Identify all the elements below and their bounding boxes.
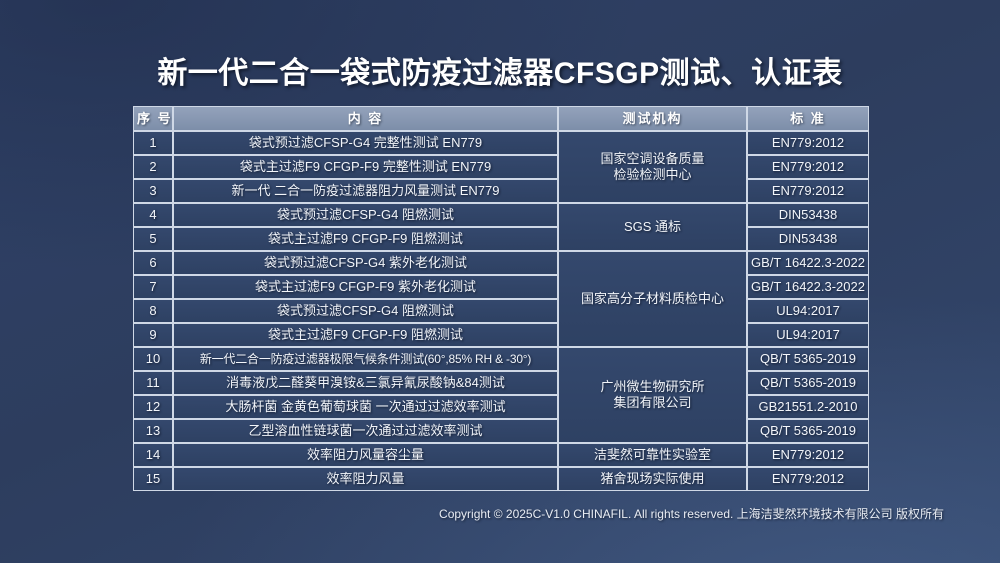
cell-standard: EN779:2012 — [747, 131, 869, 155]
cell-row-number: 11 — [133, 371, 173, 395]
table-row: 8袋式预过滤CFSP-G4 阻燃测试UL94:2017 — [133, 299, 869, 323]
cell-row-number: 13 — [133, 419, 173, 443]
cell-standard: EN779:2012 — [747, 155, 869, 179]
table-header-row: 序 号 内 容 测试机构 标 准 — [133, 106, 869, 131]
cell-content: 袋式主过滤F9 CFGP-F9 阻燃测试 — [173, 323, 558, 347]
cell-standard: EN779:2012 — [747, 467, 869, 491]
cell-standard: DIN53438 — [747, 227, 869, 251]
table-row: 1袋式预过滤CFSP-G4 完整性测试 EN779国家空调设备质量检验检测中心E… — [133, 131, 869, 155]
cell-standard: EN779:2012 — [747, 179, 869, 203]
table-row: 6袋式预过滤CFSP-G4 紫外老化测试国家高分子材料质检中心GB/T 1642… — [133, 251, 869, 275]
table-row: 3新一代 二合一防疫过滤器阻力风量测试 EN779EN779:2012 — [133, 179, 869, 203]
certification-table: 序 号 内 容 测试机构 标 准 1袋式预过滤CFSP-G4 完整性测试 EN7… — [133, 106, 869, 491]
cell-content: 乙型溶血性链球菌一次通过过滤效率测试 — [173, 419, 558, 443]
cell-content: 袋式主过滤F9 CFGP-F9 完整性测试 EN779 — [173, 155, 558, 179]
cell-content: 消毒液戊二醛葵甲溴铵&三氯异氰尿酸钠&84测试 — [173, 371, 558, 395]
cell-standard: GB21551.2-2010 — [747, 395, 869, 419]
cell-standard: GB/T 16422.3-2022 — [747, 251, 869, 275]
table-row: 11消毒液戊二醛葵甲溴铵&三氯异氰尿酸钠&84测试QB/T 5365-2019 — [133, 371, 869, 395]
table-row: 13乙型溶血性链球菌一次通过过滤效率测试QB/T 5365-2019 — [133, 419, 869, 443]
cell-standard: QB/T 5365-2019 — [747, 419, 869, 443]
cell-row-number: 15 — [133, 467, 173, 491]
table-row: 4袋式预过滤CFSP-G4 阻燃测试SGS 通标DIN53438 — [133, 203, 869, 227]
cell-content: 大肠杆菌 金黄色葡萄球菌 一次通过过滤效率测试 — [173, 395, 558, 419]
cell-testing-organization: 国家空调设备质量检验检测中心 — [558, 131, 747, 203]
table-row: 5袋式主过滤F9 CFGP-F9 阻燃测试DIN53438 — [133, 227, 869, 251]
cell-testing-organization: 国家高分子材料质检中心 — [558, 251, 747, 347]
cell-content: 袋式主过滤F9 CFGP-F9 紫外老化测试 — [173, 275, 558, 299]
cell-row-number: 10 — [133, 347, 173, 371]
table-row: 10新一代二合一防疫过滤器极限气候条件测试(60°,85% RH & -30°)… — [133, 347, 869, 371]
cell-standard: QB/T 5365-2019 — [747, 347, 869, 371]
table-row: 2袋式主过滤F9 CFGP-F9 完整性测试 EN779EN779:2012 — [133, 155, 869, 179]
cell-content: 袋式预过滤CFSP-G4 紫外老化测试 — [173, 251, 558, 275]
cell-standard: QB/T 5365-2019 — [747, 371, 869, 395]
column-header-content: 内 容 — [173, 106, 558, 131]
cell-row-number: 9 — [133, 323, 173, 347]
cell-testing-organization: 广州微生物研究所集团有限公司 — [558, 347, 747, 443]
table-body: 1袋式预过滤CFSP-G4 完整性测试 EN779国家空调设备质量检验检测中心E… — [133, 131, 869, 491]
column-header-std: 标 准 — [747, 106, 869, 131]
cell-row-number: 3 — [133, 179, 173, 203]
cell-testing-organization: 猪舍现场实际使用 — [558, 467, 747, 491]
table-row: 7袋式主过滤F9 CFGP-F9 紫外老化测试GB/T 16422.3-2022 — [133, 275, 869, 299]
cell-testing-organization: 洁斐然可靠性实验室 — [558, 443, 747, 467]
cell-row-number: 4 — [133, 203, 173, 227]
cell-content: 效率阻力风量 — [173, 467, 558, 491]
cell-testing-organization: SGS 通标 — [558, 203, 747, 251]
cell-standard: UL94:2017 — [747, 323, 869, 347]
cell-row-number: 6 — [133, 251, 173, 275]
cell-standard: EN779:2012 — [747, 443, 869, 467]
cell-row-number: 7 — [133, 275, 173, 299]
cell-content: 效率阻力风量容尘量 — [173, 443, 558, 467]
cell-content: 袋式主过滤F9 CFGP-F9 阻燃测试 — [173, 227, 558, 251]
cell-standard: GB/T 16422.3-2022 — [747, 275, 869, 299]
cell-row-number: 12 — [133, 395, 173, 419]
cell-content: 新一代二合一防疫过滤器极限气候条件测试(60°,85% RH & -30°) — [173, 347, 558, 371]
cell-row-number: 2 — [133, 155, 173, 179]
table-row: 14效率阻力风量容尘量洁斐然可靠性实验室EN779:2012 — [133, 443, 869, 467]
table-row: 15效率阻力风量猪舍现场实际使用EN779:2012 — [133, 467, 869, 491]
cell-row-number: 5 — [133, 227, 173, 251]
table-row: 9袋式主过滤F9 CFGP-F9 阻燃测试UL94:2017 — [133, 323, 869, 347]
cell-content: 袋式预过滤CFSP-G4 阻燃测试 — [173, 299, 558, 323]
table-header: 序 号 内 容 测试机构 标 准 — [133, 106, 869, 131]
cell-row-number: 8 — [133, 299, 173, 323]
certification-table-container: 序 号 内 容 测试机构 标 准 1袋式预过滤CFSP-G4 完整性测试 EN7… — [133, 106, 869, 491]
copyright-notice: Copyright © 2025C-V1.0 CHINAFIL. All rig… — [0, 505, 944, 522]
cell-content: 新一代 二合一防疫过滤器阻力风量测试 EN779 — [173, 179, 558, 203]
cell-standard: DIN53438 — [747, 203, 869, 227]
cell-row-number: 14 — [133, 443, 173, 467]
cell-content: 袋式预过滤CFSP-G4 阻燃测试 — [173, 203, 558, 227]
slide-root: 新一代二合一袋式防疫过滤器CFSGP测试、认证表 序 号 内 容 测试机构 标 … — [0, 0, 1000, 563]
cell-content: 袋式预过滤CFSP-G4 完整性测试 EN779 — [173, 131, 558, 155]
cell-standard: UL94:2017 — [747, 299, 869, 323]
cell-row-number: 1 — [133, 131, 173, 155]
page-title: 新一代二合一袋式防疫过滤器CFSGP测试、认证表 — [0, 48, 1000, 92]
column-header-org: 测试机构 — [558, 106, 747, 131]
table-row: 12大肠杆菌 金黄色葡萄球菌 一次通过过滤效率测试GB21551.2-2010 — [133, 395, 869, 419]
column-header-no: 序 号 — [133, 106, 173, 131]
